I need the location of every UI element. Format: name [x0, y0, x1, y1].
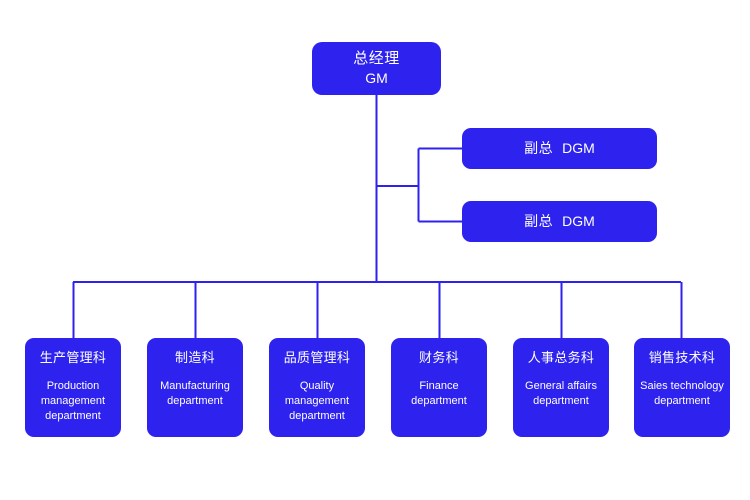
- node-title-en: General affairs department: [513, 379, 609, 409]
- node-title-cn: 品质管理科: [284, 350, 351, 366]
- node-department-finance[interactable]: 财务科 Finance department: [391, 338, 487, 437]
- node-title-cn: 销售技术科: [649, 350, 716, 366]
- node-title-en: DGM: [562, 213, 595, 231]
- node-department-sales-technology[interactable]: 销售技术科 Saies technology department: [634, 338, 730, 437]
- node-title-cn: 副总: [524, 140, 553, 158]
- node-title-en: Saies technology department: [634, 379, 730, 409]
- node-deputy-gm-1[interactable]: 副总 DGM: [462, 128, 657, 169]
- node-title-cn: 副总: [524, 213, 553, 231]
- node-department-production-management[interactable]: 生产管理科 Production management department: [25, 338, 121, 437]
- node-title-cn: 制造科: [175, 350, 215, 366]
- node-title-cn: 总经理: [353, 50, 400, 69]
- node-title-cn: 财务科: [419, 350, 459, 366]
- node-department-manufacturing[interactable]: 制造科 Manufacturing department: [147, 338, 243, 437]
- node-general-manager[interactable]: 总经理 GM: [312, 42, 441, 95]
- node-deputy-gm-2[interactable]: 副总 DGM: [462, 201, 657, 242]
- node-title-en: Production management department: [25, 379, 121, 424]
- node-title-en: Quality management department: [269, 379, 365, 424]
- org-chart: 总经理 GM 副总 DGM 副总 DGM 生产管理科 Production ma…: [0, 0, 750, 500]
- node-department-quality-management[interactable]: 品质管理科 Quality management department: [269, 338, 365, 437]
- node-title-en: Manufacturing department: [147, 379, 243, 409]
- node-title-en: DGM: [562, 140, 595, 158]
- node-title-en: Finance department: [391, 379, 487, 409]
- node-title-en: GM: [365, 70, 388, 88]
- node-department-general-affairs[interactable]: 人事总务科 General affairs department: [513, 338, 609, 437]
- node-title-cn: 人事总务科: [528, 350, 595, 366]
- node-title-cn: 生产管理科: [40, 350, 107, 366]
